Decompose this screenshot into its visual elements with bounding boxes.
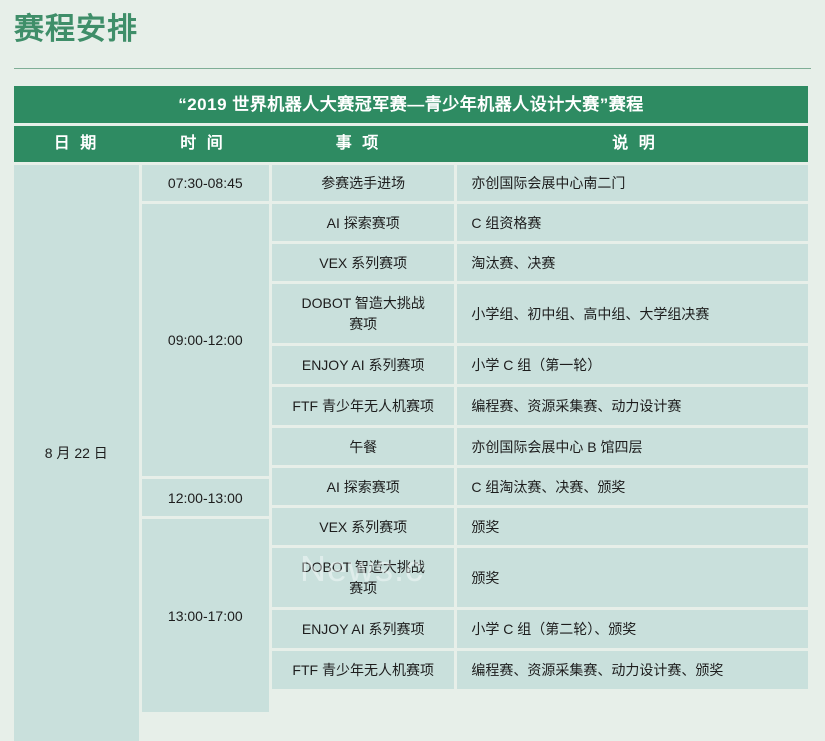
desc-cell: 亦创国际会展中心 B 馆四层 xyxy=(457,428,808,465)
heading-divider xyxy=(14,68,811,69)
desc-cell: 小学组、初中组、高中组、大学组决赛 xyxy=(457,284,808,343)
table-caption: “2019 世界机器人大赛冠军赛—青少年机器人设计大赛”赛程 xyxy=(14,86,808,123)
desc-cell: 编程赛、资源采集赛、动力设计赛、颁奖 xyxy=(457,651,808,689)
time-cell: 07:30-08:45 xyxy=(142,165,270,201)
item-cell: 参赛选手进场 xyxy=(272,165,454,201)
desc-cell: 亦创国际会展中心南二门 xyxy=(457,165,808,201)
time-cell: 09:00-12:00 xyxy=(142,204,270,476)
desc-cell: 小学 C 组（第一轮） xyxy=(457,346,808,384)
column-header-time: 时 间 xyxy=(139,126,267,162)
time-column: 07:30-08:45 09:00-12:00 12:00-13:00 13:0… xyxy=(142,165,270,741)
time-cell: 12:00-13:00 xyxy=(142,479,270,516)
item-cell: FTF 青少年无人机赛项 xyxy=(272,651,454,689)
page-title: 赛程安排 xyxy=(14,10,138,50)
column-header-item: 事 项 xyxy=(267,126,450,162)
table-header-row: 日 期 时 间 事 项 说 明 xyxy=(14,126,808,162)
desc-cell: 编程赛、资源采集赛、动力设计赛 xyxy=(457,387,808,425)
desc-cell: C 组资格赛 xyxy=(457,204,808,241)
item-cell: 午餐 xyxy=(272,428,454,465)
desc-cell: 颁奖 xyxy=(457,508,808,545)
column-header-desc: 说 明 xyxy=(450,126,808,162)
item-cell: ENJOY AI 系列赛项 xyxy=(272,610,454,648)
item-cell: VEX 系列赛项 xyxy=(272,244,454,281)
date-cell: 8 月 22 日 xyxy=(14,165,139,741)
item-cell: DOBOT 智造大挑战赛项 xyxy=(272,284,454,343)
desc-cell: 淘汰赛、决赛 xyxy=(457,244,808,281)
schedule-table: “2019 世界机器人大赛冠军赛—青少年机器人设计大赛”赛程 日 期 时 间 事… xyxy=(14,86,808,741)
item-cell: ENJOY AI 系列赛项 xyxy=(272,346,454,384)
column-header-date: 日 期 xyxy=(14,126,139,162)
desc-column: 亦创国际会展中心南二门 C 组资格赛 淘汰赛、决赛 小学组、初中组、高中组、大学… xyxy=(457,165,808,741)
desc-cell: C 组淘汰赛、决赛、颁奖 xyxy=(457,468,808,505)
time-cell: 13:00-17:00 xyxy=(142,519,270,712)
item-column: 参赛选手进场 AI 探索赛项 VEX 系列赛项 DOBOT 智造大挑战赛项 EN… xyxy=(272,165,454,741)
item-cell: DOBOT 智造大挑战赛项 xyxy=(272,548,454,607)
item-cell: AI 探索赛项 xyxy=(272,204,454,241)
item-cell: FTF 青少年无人机赛项 xyxy=(272,387,454,425)
date-column: 8 月 22 日 xyxy=(14,165,139,741)
table-body: 8 月 22 日 07:30-08:45 09:00-12:00 12:00-1… xyxy=(14,165,808,741)
desc-cell: 颁奖 xyxy=(457,548,808,607)
item-cell: VEX 系列赛项 xyxy=(272,508,454,545)
item-cell: AI 探索赛项 xyxy=(272,468,454,505)
desc-cell: 小学 C 组（第二轮）、颁奖 xyxy=(457,610,808,648)
